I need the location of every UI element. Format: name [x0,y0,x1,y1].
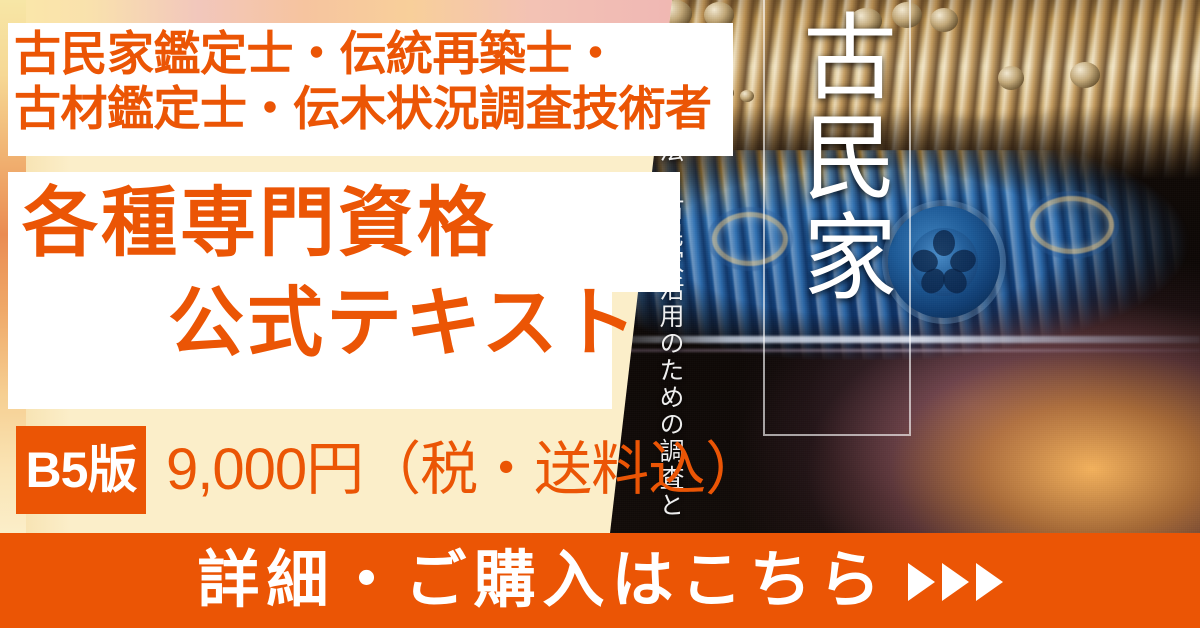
chevron-right-triple-icon [908,563,1003,601]
headline-line-1: 各種専門資格 [22,186,496,262]
chevron-right-icon [976,563,1003,601]
headline-line-2: 公式テキスト [168,286,640,362]
cover-title: 古民家 [776,8,894,308]
chevron-right-icon [942,563,969,601]
chevron-right-icon [908,563,935,601]
cta-label: 詳細・ご購入はこちら [197,550,887,612]
format-badge: B5版 [16,426,146,514]
price-text: 9,000円（税・送料込） [166,432,762,508]
certification-text: 古民家鑑定士・伝統再築士・ 古材鑑定士・伝木状況調査技術者 [14,27,726,137]
promo-banner: 古民家 伝統構法 古民家活用のための調査と再生の 古民家鑑定士・伝統再築士・ 古… [0,0,1200,628]
cta-bar[interactable]: 詳細・ご購入はこちら [0,533,1200,628]
cta-content[interactable]: 詳細・ご購入はこちら [0,533,1200,628]
